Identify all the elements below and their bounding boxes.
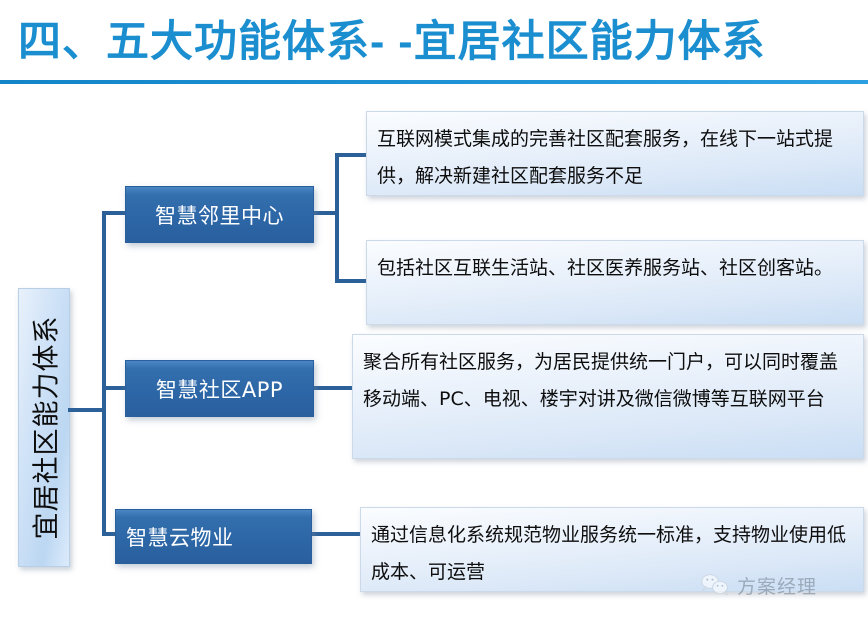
root-node-label: 宜居社区能力体系 — [25, 316, 64, 540]
wechat-icon — [700, 573, 730, 597]
connector-branch-2-desc-0 — [312, 532, 362, 536]
connector-branch-0-trunk — [335, 153, 339, 283]
watermark-label: 方案经理 — [737, 572, 817, 599]
connector-branch-0-desc-1 — [335, 279, 368, 283]
description-box: 包括社区互联生活站、社区医养服务站、社区创客站。 — [366, 240, 864, 325]
branch-node-smart-cloud-property[interactable]: 智慧云物业 — [115, 509, 312, 564]
connector-root-to-branch-1 — [102, 386, 127, 390]
watermark: 方案经理 — [700, 565, 860, 605]
description-box: 互联网模式集成的完善社区配套服务，在线下一站式提供，解决新建社区配套服务不足 — [366, 111, 864, 196]
connector-branch-1-desc-0 — [312, 386, 354, 390]
connector-root-stub — [68, 408, 106, 412]
connector-branch-0-desc-0 — [335, 153, 368, 157]
branch-node-smart-neighborhood-center[interactable]: 智慧邻里中心 — [125, 186, 314, 243]
connector-root-trunk — [102, 211, 106, 536]
root-node: 宜居社区能力体系 — [18, 288, 70, 567]
connector-root-to-branch-0 — [102, 211, 127, 215]
branch-node-label: 智慧云物业 — [126, 522, 234, 552]
branch-node-label: 智慧社区APP — [156, 374, 283, 404]
description-box: 聚合所有社区服务，为居民提供统一门户，可以同时覆盖移动端、PC、电视、楼宇对讲及… — [352, 334, 864, 459]
title-divider — [0, 80, 868, 84]
branch-node-smart-community-app[interactable]: 智慧社区APP — [125, 360, 314, 417]
page-title: 四、五大功能体系- -宜居社区能力体系 — [18, 10, 854, 74]
branch-node-label: 智慧邻里中心 — [155, 200, 284, 230]
